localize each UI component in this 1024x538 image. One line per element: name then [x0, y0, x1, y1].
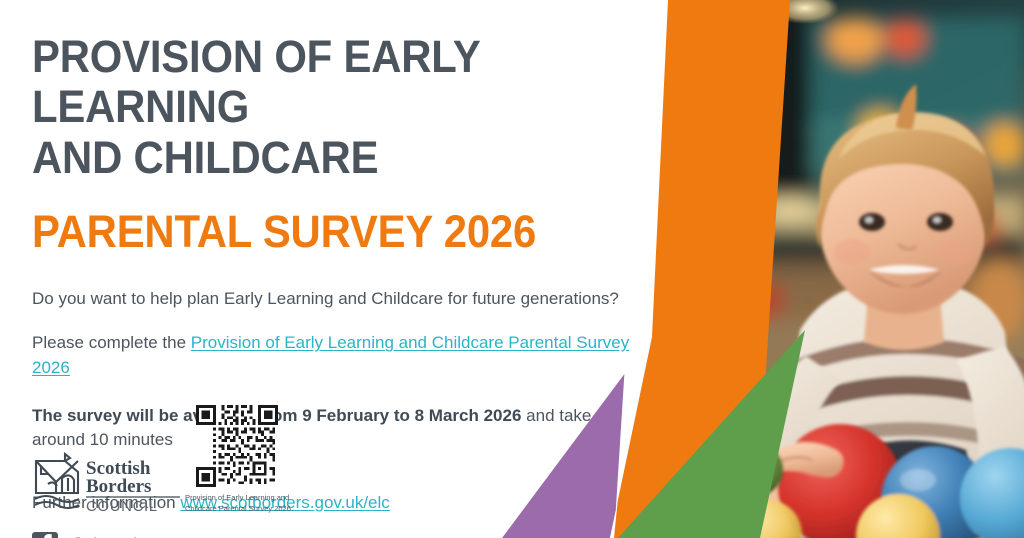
page-subtitle: PARENTAL SURVEY 2026 [32, 183, 613, 257]
logo-text-council: COUNCIL [86, 498, 158, 514]
teal-wedge [648, 0, 752, 538]
qr-caption-line-2: Childcare Parental Survey 2026 [185, 504, 291, 513]
poster-canvas: PROVISION OF EARLY LEARNING AND CHILDCAR… [0, 0, 1024, 538]
facebook-row[interactable]: @sbcearlyyears [32, 516, 657, 538]
scottish-borders-council-logo: Scottish Borders COUNCIL [32, 452, 182, 514]
scottish-borders-crest-icon [36, 454, 78, 493]
instruction-prefix: Please complete the [32, 333, 191, 352]
qr-caption-line-1: Provision of Early Learning and [185, 493, 289, 502]
white-separator-photo-edge [700, 0, 760, 538]
logo-text-borders: Borders [86, 476, 151, 497]
qr-caption: Provision of Early Learning and Childcar… [185, 492, 315, 515]
instruction-text: Please complete the Provision of Early L… [32, 311, 657, 380]
council-logo-block: Scottish Borders COUNCIL [32, 452, 182, 514]
child-playing-photo [690, 0, 1024, 538]
page-title: PROVISION OF EARLY LEARNING AND CHILDCAR… [32, 0, 613, 183]
qr-code-icon[interactable] [185, 405, 289, 487]
title-line-1: PROVISION OF EARLY LEARNING [32, 31, 480, 132]
facebook-icon[interactable] [32, 532, 58, 538]
question-text: Do you want to help plan Early Learning … [32, 257, 657, 312]
title-line-2: AND CHILDCARE [32, 132, 378, 183]
qr-block: Provision of Early Learning and Childcar… [185, 405, 345, 515]
crest-water-lines [35, 496, 79, 508]
